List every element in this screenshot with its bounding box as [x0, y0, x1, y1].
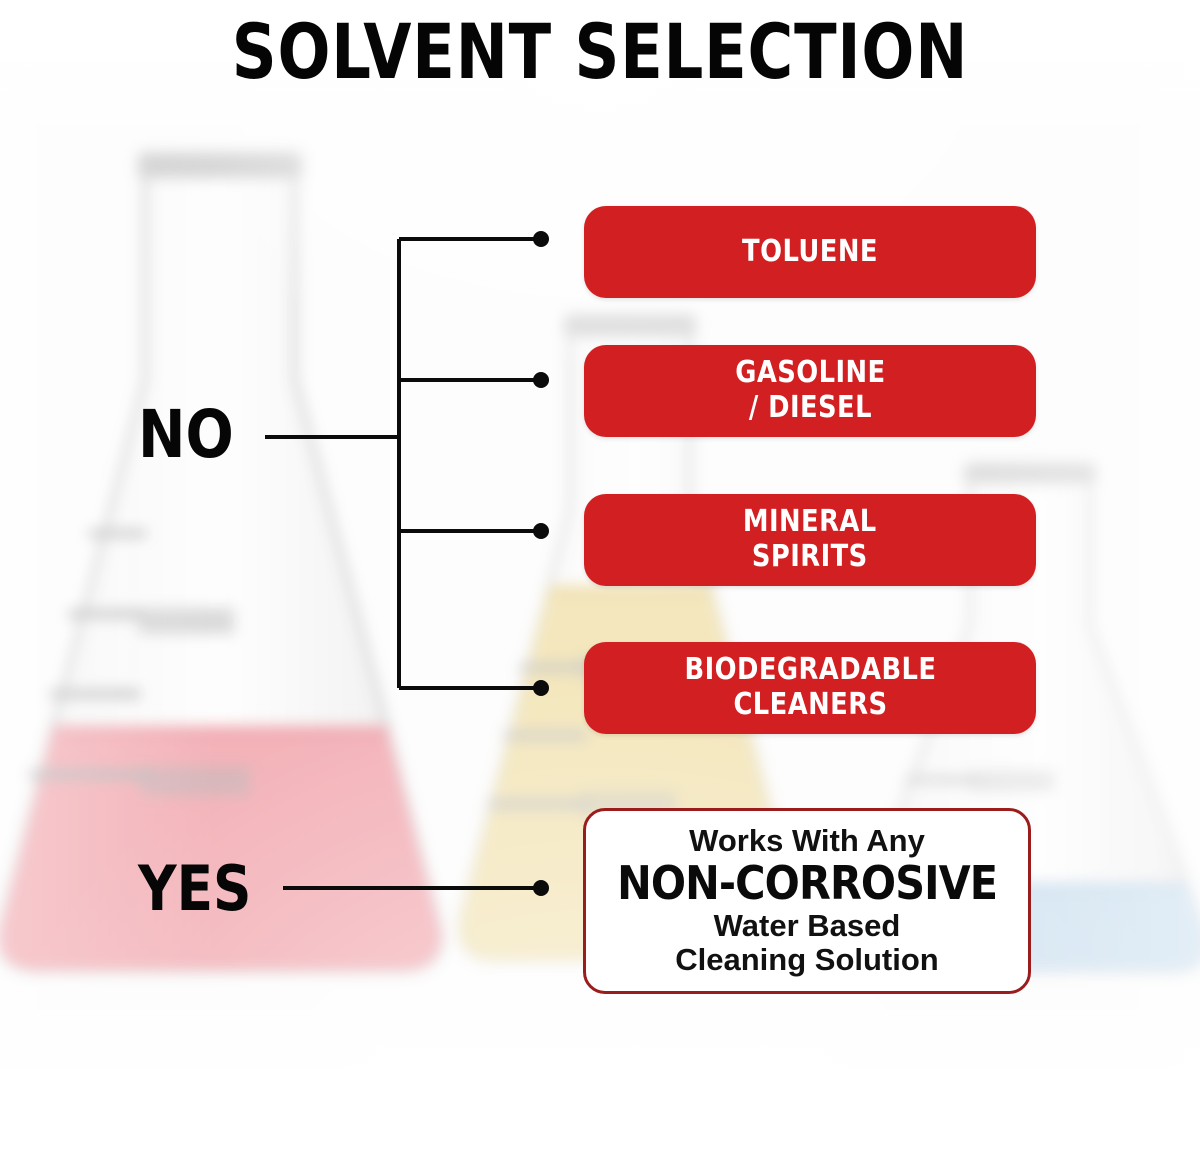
- recommended-solution-card[interactable]: Works With Any NON-CORROSIVE Water Based…: [583, 808, 1031, 994]
- avoid-item-mineral-spirits[interactable]: MINERAL SPIRITS: [584, 494, 1036, 586]
- avoid-item-gasoline-diesel[interactable]: GASOLINE / DIESEL: [584, 345, 1036, 437]
- branch-dot-gasoline-diesel: [533, 372, 549, 388]
- background-bottom-fade: [0, 983, 1200, 1153]
- branch-dot-biodegradable-cleaners: [533, 680, 549, 696]
- avoid-item-label: MINERAL SPIRITS: [743, 505, 877, 575]
- recommended-headline-text: NON-CORROSIVE: [617, 860, 997, 907]
- avoid-item-label: GASOLINE / DIESEL: [735, 356, 885, 426]
- branch-label-yes: YES: [138, 858, 251, 920]
- branch-dot-toluene: [533, 231, 549, 247]
- avoid-item-label: BIODEGRADABLE CLEANERS: [684, 653, 936, 723]
- branch-dot-recommended: [533, 880, 549, 896]
- branch-label-no: NO: [138, 402, 234, 468]
- solvent-selection-infographic: SOLVENT SELECTION NO YES TOLUENE: [0, 0, 1200, 1153]
- recommended-prefix-text: Works With Any: [689, 824, 925, 859]
- branch-dot-mineral-spirits: [533, 523, 549, 539]
- page-title: SOLVENT SELECTION: [108, 14, 1092, 90]
- avoid-item-toluene[interactable]: TOLUENE: [584, 206, 1036, 298]
- recommended-detail-text: Water Based Cleaning Solution: [675, 909, 939, 978]
- avoid-item-biodegradable-cleaners[interactable]: BIODEGRADABLE CLEANERS: [584, 642, 1036, 734]
- avoid-item-label: TOLUENE: [742, 235, 878, 270]
